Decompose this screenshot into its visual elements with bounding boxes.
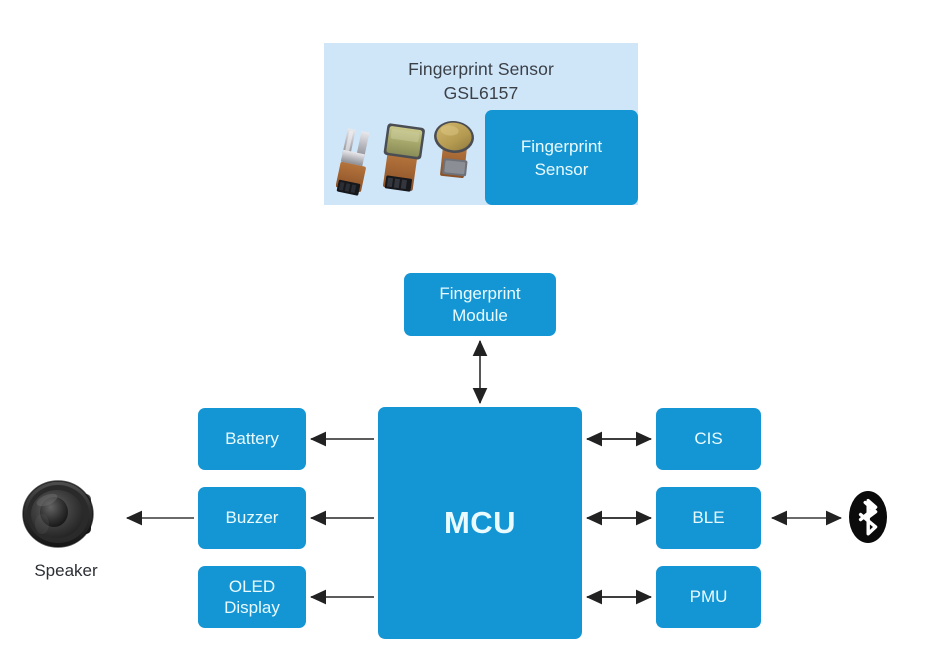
block-pmu-label: PMU <box>690 586 728 608</box>
speaker-peripheral: Speaker <box>16 478 116 581</box>
block-cis-label: CIS <box>694 428 722 450</box>
block-buzzer[interactable]: Buzzer <box>198 487 306 549</box>
block-ble[interactable]: BLE <box>656 487 761 549</box>
product-title-line2: GSL6157 <box>324 81 638 105</box>
fingerprint-sensor-modules-photo <box>336 111 488 197</box>
block-fingerprint-module[interactable]: Fingerprint Module <box>404 273 556 336</box>
block-ble-label: BLE <box>692 507 724 529</box>
block-pmu[interactable]: PMU <box>656 566 761 628</box>
bluetooth-peripheral <box>848 490 888 544</box>
block-oled-line2: Display <box>224 597 280 618</box>
speaker-label: Speaker <box>16 561 116 581</box>
callout-line2: Sensor <box>535 158 589 181</box>
block-mcu-label: MCU <box>444 512 516 534</box>
bluetooth-icon <box>848 490 888 544</box>
speaker-driver-icon <box>16 478 116 555</box>
product-panel: Fingerprint Sensor GSL6157 <box>324 43 638 205</box>
block-mcu[interactable]: MCU <box>378 407 582 639</box>
block-battery[interactable]: Battery <box>198 408 306 470</box>
block-oled-display[interactable]: OLED Display <box>198 566 306 628</box>
product-title-line1: Fingerprint Sensor <box>408 59 554 79</box>
product-panel-title: Fingerprint Sensor GSL6157 <box>324 57 638 105</box>
block-cis[interactable]: CIS <box>656 408 761 470</box>
callout-line1: Fingerprint <box>521 135 602 158</box>
block-buzzer-label: Buzzer <box>226 507 279 529</box>
block-diagram-canvas: Fingerprint Sensor GSL6157 <box>0 0 941 672</box>
block-oled-line1: OLED <box>224 576 280 597</box>
block-fingerprint-module-line2: Module <box>439 305 520 327</box>
fingerprint-sensor-callout: Fingerprint Sensor <box>485 110 638 205</box>
block-battery-label: Battery <box>225 428 279 450</box>
block-fingerprint-module-line1: Fingerprint <box>439 283 520 305</box>
